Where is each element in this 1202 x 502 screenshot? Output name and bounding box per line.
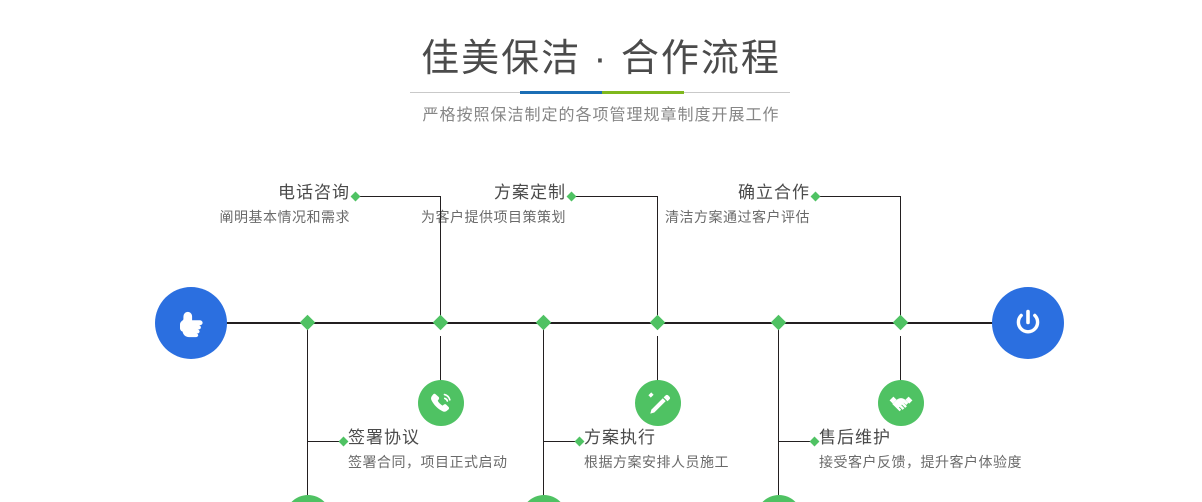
connector-stem-1	[440, 336, 441, 384]
step-desc-3: 为客户提供项目策策划	[310, 206, 566, 228]
connector-arm-3	[571, 196, 658, 197]
connector-stem-5	[900, 336, 901, 384]
connector-stem-6	[778, 322, 779, 495]
axis-marker-6	[771, 315, 787, 331]
step-label-6: 售后维护 接受客户反馈，提升客户体验度	[819, 427, 1109, 473]
step-title-3: 方案定制	[310, 182, 566, 204]
axis-marker-5	[893, 315, 909, 331]
connector-up-1	[440, 196, 441, 322]
step-title-2: 签署协议	[348, 427, 608, 449]
timeline-start-node[interactable]	[155, 287, 227, 359]
step-icon-1[interactable]	[418, 380, 464, 426]
axis-marker-2	[300, 315, 316, 331]
page-subtitle: 严格按照保洁制定的各项管理规章制度开展工作	[0, 104, 1202, 128]
step-desc-5: 清洁方案通过客户评估	[556, 206, 810, 228]
axis-marker-4	[536, 315, 552, 331]
handshake-icon	[887, 389, 915, 417]
timeline-end-node[interactable]	[992, 287, 1064, 359]
process-flow-infographic: 佳美保洁 · 合作流程 严格按照保洁制定的各项管理规章制度开展工作	[0, 0, 1202, 502]
step-desc-2: 签署合同，项目正式启动	[348, 451, 608, 473]
connector-tip-5	[811, 192, 821, 202]
timeline: 电话咨询 阐明基本情况和需求 签署协议 签署合同，项目正式启动	[0, 140, 1202, 502]
connector-stem-3	[657, 336, 658, 384]
power-icon	[1008, 303, 1048, 343]
pointing-hand-icon	[171, 303, 211, 343]
step-label-3: 方案定制 为客户提供项目策策划	[310, 182, 566, 228]
phone-call-icon	[427, 389, 455, 417]
connector-up-3	[657, 196, 658, 322]
timeline-axis	[160, 322, 1042, 324]
step-label-2: 签署协议 签署合同，项目正式启动	[348, 427, 608, 473]
step-title-6: 售后维护	[819, 427, 1109, 449]
connector-stem-4	[543, 322, 544, 495]
axis-marker-1	[433, 315, 449, 331]
step-icon-6[interactable]	[756, 495, 802, 502]
step-desc-6: 接受客户反馈，提升客户体验度	[819, 451, 1109, 473]
divider-blue-segment	[520, 91, 602, 94]
connector-stem-2	[307, 322, 308, 495]
step-desc-4: 根据方案安排人员施工	[584, 451, 844, 473]
divider-green-segment	[602, 91, 684, 94]
header: 佳美保洁 · 合作流程 严格按照保洁制定的各项管理规章制度开展工作	[0, 0, 1202, 140]
step-icon-3[interactable]	[635, 380, 681, 426]
axis-marker-3	[650, 315, 666, 331]
step-title-4: 方案执行	[584, 427, 844, 449]
pencil-edit-icon	[644, 389, 672, 417]
connector-arm-1	[355, 196, 441, 197]
step-icon-4[interactable]	[521, 495, 567, 502]
page-title: 佳美保洁 · 合作流程	[0, 36, 1202, 82]
connector-arm-5	[815, 196, 901, 197]
step-icon-2[interactable]	[285, 495, 331, 502]
step-label-5: 确立合作 清洁方案通过客户评估	[556, 182, 810, 228]
connector-tip-2	[339, 437, 349, 447]
connector-up-5	[900, 196, 901, 322]
title-divider	[410, 91, 790, 94]
step-label-4: 方案执行 根据方案安排人员施工	[584, 427, 844, 473]
step-icon-5[interactable]	[878, 380, 924, 426]
step-title-5: 确立合作	[556, 182, 810, 204]
